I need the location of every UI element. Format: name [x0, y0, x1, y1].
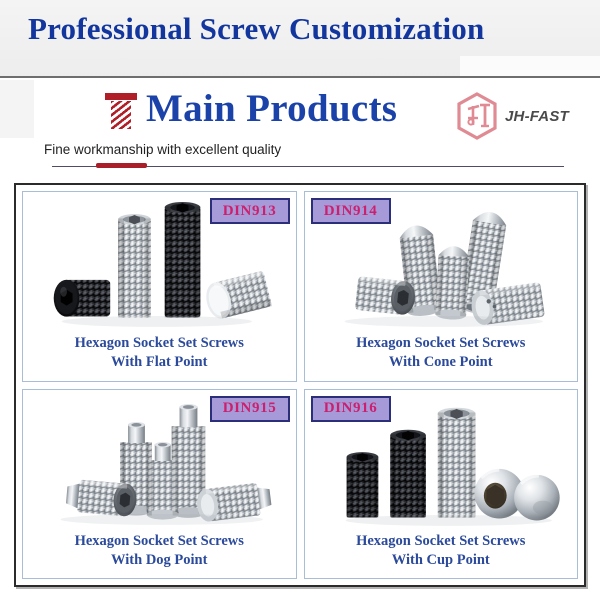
brand-name: JH-FAST [505, 108, 569, 125]
page-banner: Professional Screw Customization [0, 0, 600, 78]
screw-thread-shape [111, 101, 131, 129]
product-caption-line2: With Cup Point [309, 551, 574, 570]
brand-lockup[interactable]: JH-FAST [455, 92, 569, 140]
screw-icon [104, 92, 138, 130]
product-caption-line1: Hexagon Socket Set Screws [309, 532, 574, 551]
product-caption: Hexagon Socket Set Screws With Cone Poin… [309, 334, 574, 372]
product-caption-line2: With Dog Point [27, 551, 292, 570]
page-title: Professional Screw Customization [28, 11, 484, 47]
tagline-accent-bar [96, 163, 147, 168]
din-badge: DIN915 [210, 396, 290, 422]
product-caption-line2: With Flat Point [27, 353, 292, 372]
din-badge: DIN916 [311, 396, 391, 422]
section-title: Main Products [146, 86, 397, 131]
product-caption-line1: Hexagon Socket Set Screws [27, 532, 292, 551]
product-card[interactable]: DIN913 Hexagon Socket Set Screws With Fl… [22, 191, 297, 382]
banner-corner-patch [460, 56, 600, 78]
tagline: Fine workmanship with excellent quality [44, 142, 281, 157]
products-grid: DIN913 Hexagon Socket Set Screws With Fl… [22, 191, 578, 579]
header-left-panel [0, 80, 34, 138]
product-caption-line1: Hexagon Socket Set Screws [309, 334, 574, 353]
product-caption-line1: Hexagon Socket Set Screws [27, 334, 292, 353]
product-caption: Hexagon Socket Set Screws With Dog Point [27, 532, 292, 570]
product-caption: Hexagon Socket Set Screws With Flat Poin… [27, 334, 292, 372]
din-badge: DIN914 [311, 198, 391, 224]
product-card[interactable]: DIN914 Hexagon Socket Set Screws With Co… [304, 191, 579, 382]
screw-head-shape [105, 93, 137, 100]
hexagon-logo-icon [455, 92, 499, 140]
section-header: Main Products JH-FAST Fine workmanship w… [0, 78, 600, 178]
product-card[interactable]: DIN916 Hexagon Socket Set Screws With Cu… [304, 389, 579, 580]
product-caption: Hexagon Socket Set Screws With Cup Point [309, 532, 574, 570]
products-frame: DIN913 Hexagon Socket Set Screws With Fl… [14, 183, 586, 587]
product-caption-line2: With Cone Point [309, 353, 574, 372]
product-card[interactable]: DIN915 Hexagon Socket Set Screws With Do… [22, 389, 297, 580]
din-badge: DIN913 [210, 198, 290, 224]
